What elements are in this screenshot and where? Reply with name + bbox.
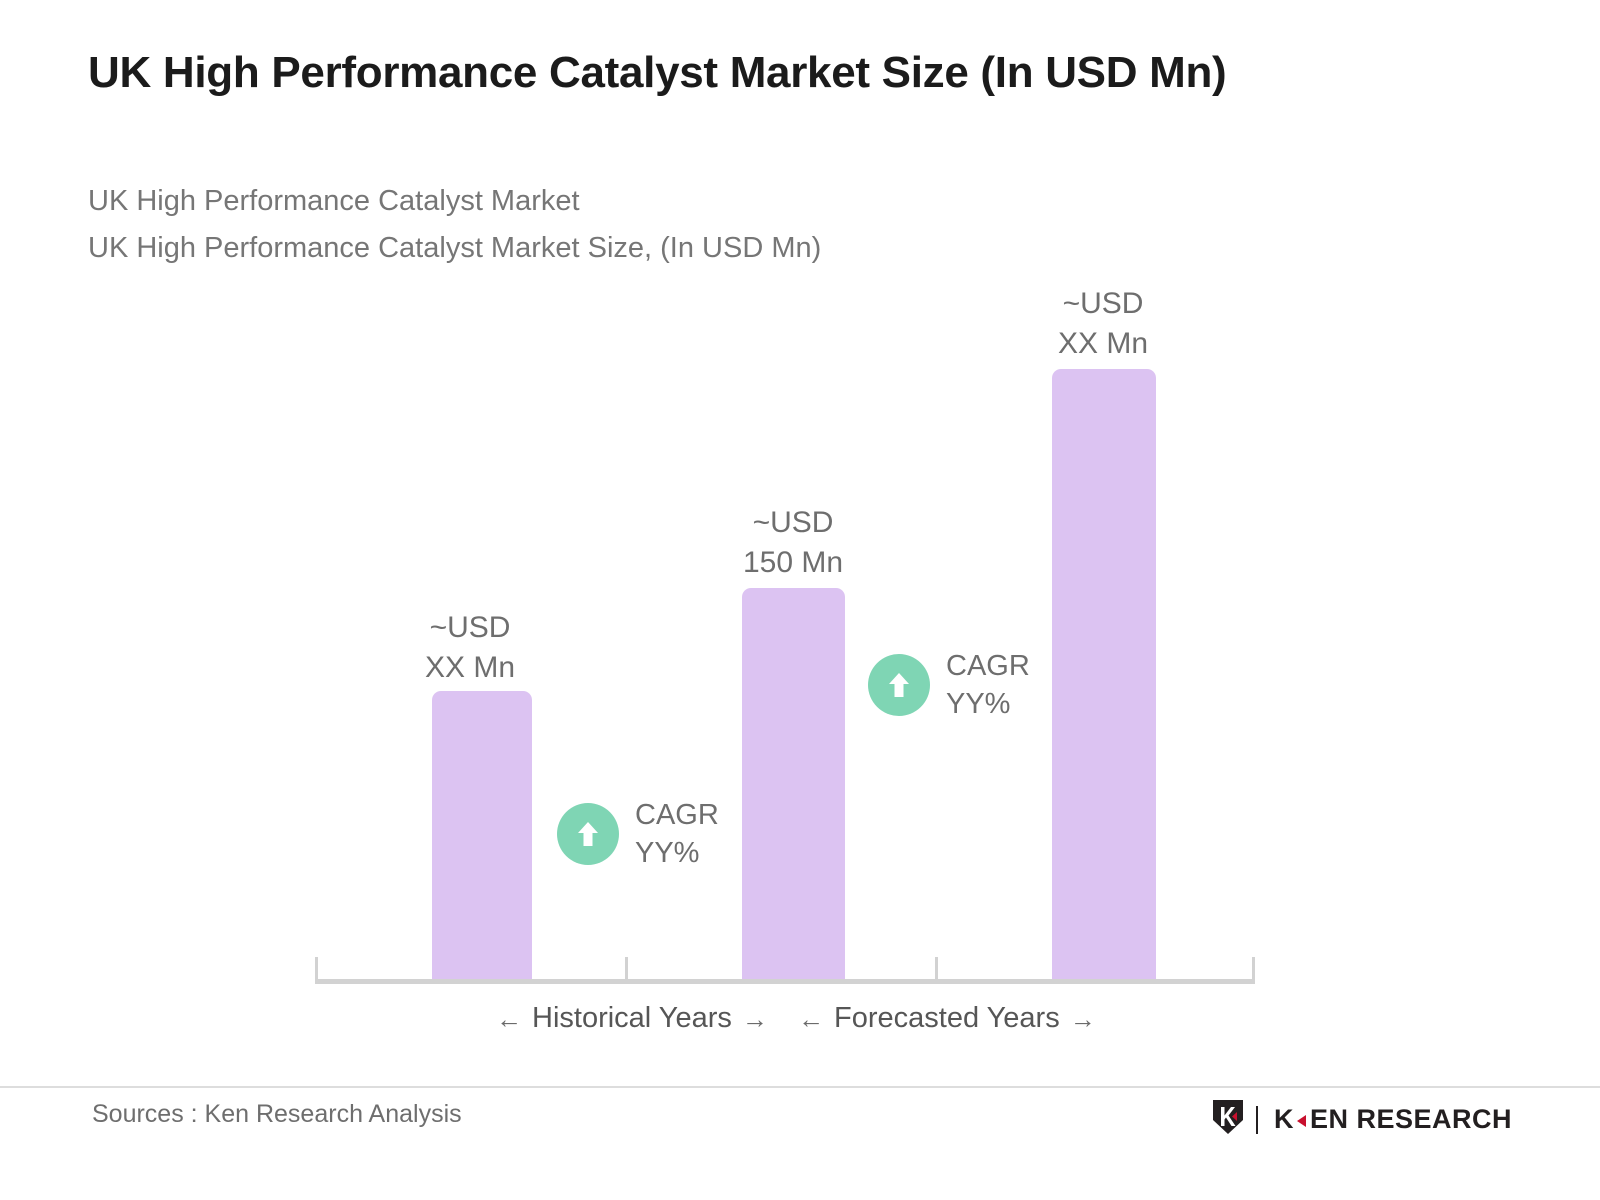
axis-tick-mid-2: [935, 957, 938, 983]
axis-tick-mid-1: [625, 957, 628, 983]
arrow-left-icon: ←: [798, 1006, 824, 1032]
slide-canvas: UK High Performance Catalyst Market Size…: [0, 0, 1600, 1200]
bar-label-1-line2: XX Mn: [372, 648, 568, 688]
arrow-up-icon: [557, 803, 619, 865]
bar-historical[interactable]: [432, 691, 532, 979]
bar-label-1: ~USD XX Mn: [372, 608, 568, 688]
cagr-text-2: CAGR YY%: [946, 647, 1030, 723]
bar-label-3-line1: ~USD: [1005, 284, 1201, 324]
bar-current[interactable]: [742, 588, 845, 979]
ken-research-logo: K EN RESEARCH: [1211, 1098, 1512, 1141]
arrow-right-icon: →: [742, 1006, 768, 1032]
arrow-up-icon: [868, 654, 930, 716]
forecasted-years-label: Forecasted Years: [834, 1002, 1060, 1035]
logo-wordmark: K EN RESEARCH: [1274, 1104, 1512, 1135]
bar-label-2: ~USD 150 Mn: [695, 503, 891, 583]
cagr-2-line1: CAGR: [946, 647, 1030, 685]
arrow-right-icon: →: [1070, 1006, 1096, 1032]
logo-accent-triangle-icon: [1294, 1104, 1310, 1135]
cagr-1-line1: CAGR: [635, 796, 719, 834]
axis-tick-end: [1252, 957, 1255, 983]
bar-forecast[interactable]: [1052, 369, 1156, 979]
axis-tick-start: [315, 957, 318, 983]
logo-word-rest: EN RESEARCH: [1310, 1104, 1512, 1135]
bar-label-2-line1: ~USD: [695, 503, 891, 543]
historical-years-label: Historical Years: [532, 1002, 732, 1035]
x-axis-line: [315, 979, 1255, 984]
cagr-badge-1[interactable]: CAGR YY%: [557, 796, 719, 872]
sources-text: Sources : Ken Research Analysis: [92, 1100, 462, 1129]
arrow-left-icon: ←: [496, 1006, 522, 1032]
axis-caption-historical: ← Historical Years →: [496, 1002, 768, 1035]
bar-label-2-line2: 150 Mn: [695, 543, 891, 583]
bar-label-1-line1: ~USD: [372, 608, 568, 648]
logo-divider: [1256, 1106, 1258, 1134]
bar-label-3-line2: XX Mn: [1005, 324, 1201, 364]
bar-label-3: ~USD XX Mn: [1005, 284, 1201, 364]
logo-word-k: K: [1274, 1104, 1294, 1135]
cagr-badge-2[interactable]: CAGR YY%: [868, 647, 1030, 723]
axis-caption-forecasted: ← Forecasted Years →: [798, 1002, 1096, 1035]
footer-divider: [0, 1086, 1600, 1088]
cagr-2-line2: YY%: [946, 685, 1030, 723]
cagr-text-1: CAGR YY%: [635, 796, 719, 872]
cagr-1-line2: YY%: [635, 834, 719, 872]
chart-plot-area: ~USD XX Mn ~USD 150 Mn ~USD XX Mn CAGR Y…: [0, 0, 1600, 1070]
ken-research-shield-icon: [1211, 1098, 1245, 1141]
